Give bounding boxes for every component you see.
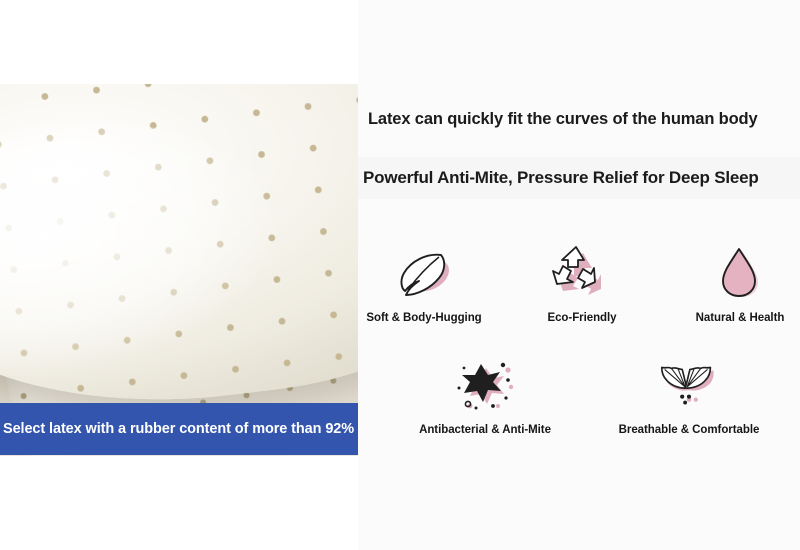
feature-icon-grid: Soft & Body-Hugging	[358, 240, 800, 436]
feature-item-breathable-comfortable: Breathable & Comfortable	[605, 352, 773, 436]
feature-row-top: Soft & Body-Hugging	[358, 240, 800, 324]
feature-label: Eco-Friendly	[547, 312, 616, 324]
photo-caption-band: Select latex with a rubber content of mo…	[0, 403, 358, 455]
feature-panel: Latex can quickly fit the curves of the …	[358, 0, 800, 550]
feature-label: Soft & Body-Hugging	[366, 312, 481, 324]
product-feature-page: Select latex with a rubber content of mo…	[0, 0, 800, 550]
latex-product-photo: Select latex with a rubber content of mo…	[0, 84, 358, 456]
feature-item-soft-body-hugging: Soft & Body-Hugging	[364, 240, 484, 324]
splatter-icon	[449, 352, 521, 418]
photo-caption-text: Select latex with a rubber content of mo…	[3, 421, 354, 437]
photo-background	[0, 84, 358, 456]
wings-icon	[653, 352, 725, 418]
feature-item-natural-health: Natural & Health	[680, 240, 800, 324]
headline-secondary: Powerful Anti-Mite, Pressure Relief for …	[363, 168, 759, 188]
recycle-icon	[546, 240, 618, 306]
headline-primary: Latex can quickly fit the curves of the …	[368, 110, 758, 129]
feature-label: Natural & Health	[696, 312, 785, 324]
feature-item-antibacterial-anti-mite: Antibacterial & Anti-Mite	[401, 352, 569, 436]
feature-label: Antibacterial & Anti-Mite	[419, 424, 551, 436]
feature-row-bottom: Antibacterial & Anti-Mite	[358, 352, 800, 436]
feature-item-eco-friendly: Eco-Friendly	[522, 240, 642, 324]
droplet-icon	[704, 240, 776, 306]
feature-label: Breathable & Comfortable	[619, 424, 760, 436]
feather-icon	[388, 240, 460, 306]
